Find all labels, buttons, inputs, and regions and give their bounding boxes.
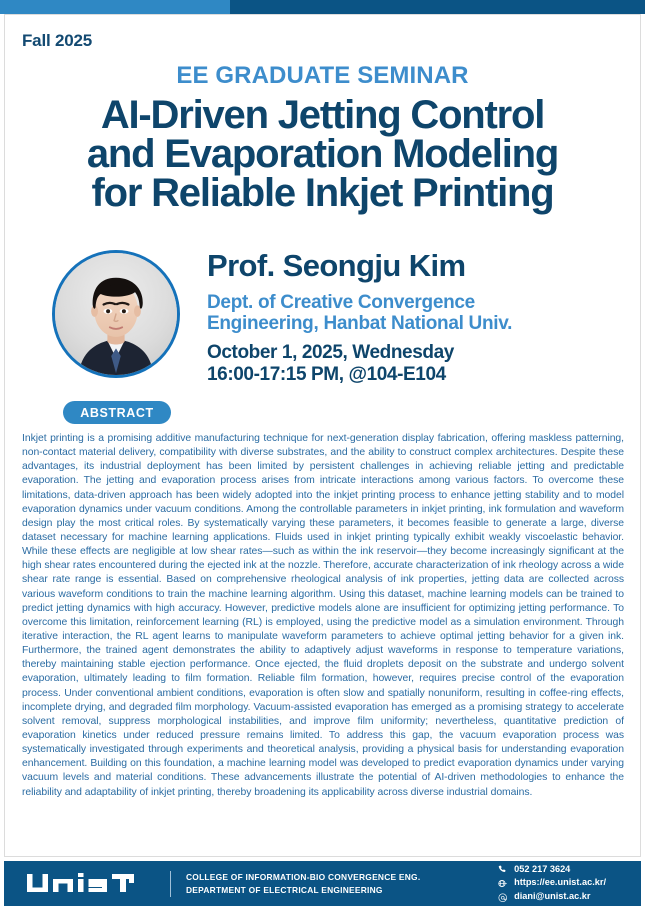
title-line-3: for Reliable Inkjet Printing — [0, 174, 645, 213]
website-url: https://ee.unist.ac.kr/ — [514, 877, 606, 891]
at-sign-icon — [496, 893, 509, 903]
phone-icon — [496, 865, 509, 874]
speaker-affiliation: Dept. of Creative Convergence Engineerin… — [207, 292, 627, 335]
seminar-kicker: EE GRADUATE SEMINAR — [0, 62, 645, 90]
top-accent-bar-left-segment — [0, 0, 230, 14]
affiliation-line-2: Engineering, Hanbat National Univ. — [207, 313, 627, 334]
email-address: diani@unist.ac.kr — [514, 890, 590, 904]
unist-logo — [26, 871, 156, 897]
globe-icon — [496, 879, 509, 888]
contact-phone-row: 052 217 3624 — [496, 863, 606, 877]
term-label: Fall 2025 — [22, 31, 92, 51]
speaker-name: Prof. Seongju Kim — [207, 250, 465, 281]
speaker-portrait — [52, 250, 180, 378]
department-line: DEPARTMENT OF ELECTRICAL ENGINEERING — [186, 884, 420, 896]
event-time-location: 16:00-17:15 PM, @104-E104 — [207, 364, 627, 386]
title-line-1: AI-Driven Jetting Control — [0, 96, 645, 135]
footer-department: COLLEGE OF INFORMATION-BIO CONVERGENCE E… — [186, 871, 420, 895]
event-schedule: October 1, 2025, Wednesday 16:00-17:15 P… — [207, 342, 627, 385]
title-line-2: and Evaporation Modeling — [0, 135, 645, 174]
contact-website-row[interactable]: https://ee.unist.ac.kr/ — [496, 877, 606, 891]
event-date: October 1, 2025, Wednesday — [207, 342, 627, 364]
phone-number: 052 217 3624 — [514, 863, 570, 877]
footer-bar: COLLEGE OF INFORMATION-BIO CONVERGENCE E… — [4, 861, 641, 906]
abstract-badge: ABSTRACT — [63, 401, 171, 424]
top-accent-bar — [0, 0, 645, 14]
footer-contact: 052 217 3624 https://ee.unist.ac.kr/ dia… — [496, 863, 606, 905]
top-accent-bar-right-segment — [230, 0, 645, 14]
contact-email-row[interactable]: diani@unist.ac.kr — [496, 890, 606, 904]
footer-divider — [170, 871, 171, 897]
affiliation-line-1: Dept. of Creative Convergence — [207, 292, 627, 313]
abstract-text: Inkjet printing is a promising additive … — [22, 432, 624, 800]
page-title: AI-Driven Jetting Control and Evaporatio… — [0, 96, 645, 212]
college-line: COLLEGE OF INFORMATION-BIO CONVERGENCE E… — [186, 871, 420, 883]
seminar-poster: Fall 2025 EE GRADUATE SEMINAR AI-Driven … — [0, 0, 645, 910]
